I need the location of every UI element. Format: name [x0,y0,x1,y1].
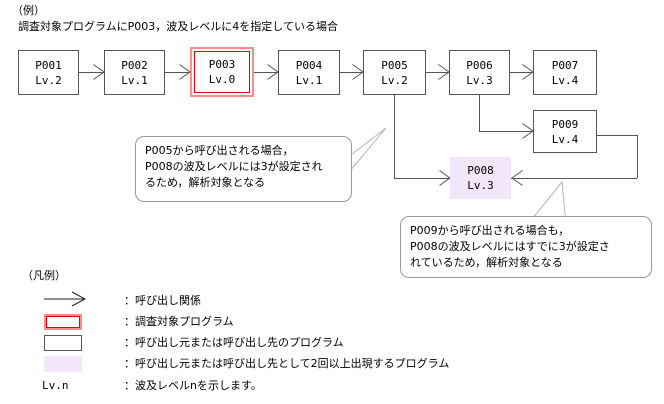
program-box-p004[interactable]: P004 Lv.1 [278,50,340,95]
legend-lvn-text: Lv.n [42,377,69,395]
callout-p005: P005から呼び出される場合， P008の波及レベルには3が設定され るため，解… [135,136,352,202]
program-level-p001: Lv.2 [35,73,62,88]
program-box-p005[interactable]: P005 Lv.2 [363,50,426,95]
program-name-p008: P008 [467,163,494,178]
legend-red-box-icon [38,312,94,332]
program-name-p006: P006 [466,58,493,73]
program-name-p007: P007 [552,58,579,73]
edge-p006-p009-vline [479,95,480,131]
program-level-p004: Lv.1 [296,73,323,88]
program-level-p009: Lv.4 [552,132,579,147]
legend-label-call-relation: ：呼び出し関係 [124,292,201,310]
program-name-p003: P003 [209,57,236,72]
edge-p009-p008-vline [637,135,638,178]
program-level-p002: Lv.1 [121,73,148,88]
program-name-p001: P001 [35,58,62,73]
legend-title: （凡例） [22,267,66,283]
program-name-p004: P004 [296,58,323,73]
legend-lvn-icon: Lv.n [38,376,94,396]
program-name-p009: P009 [552,117,579,132]
edge-p005-p008-vline [394,95,395,178]
program-name-p005: P005 [381,58,408,73]
program-box-p001[interactable]: P001 Lv.2 [18,50,79,95]
legend-arrow-icon [38,291,94,311]
program-box-p009[interactable]: P009 Lv.4 [533,110,597,153]
legend-label-target-program: ：調査対象プログラム [124,313,234,331]
program-box-p007[interactable]: P007 Lv.4 [533,50,597,95]
program-level-p005: Lv.2 [381,73,408,88]
legend-plain-box-icon [38,333,94,353]
program-name-p002: P002 [121,58,148,73]
program-box-p006[interactable]: P006 Lv.3 [449,50,510,95]
legend-label-caller-callee-program: ：呼び出し元または呼び出し先のプログラム [124,334,344,352]
program-level-p006: Lv.3 [466,73,493,88]
program-level-p003: Lv.0 [209,72,236,87]
edge-p009-p008-hline-top [597,135,637,136]
example-label: （例） [12,3,45,18]
diagram-canvas: （例） 調査対象プログラムにP003，波及レベルに4を指定している場合 [0,0,664,404]
edge-p009-p008-hline-bottom [511,178,637,179]
diagram-description: 調査対象プログラムにP003，波及レベルに4を指定している場合 [18,19,338,34]
program-level-p007: Lv.4 [552,73,579,88]
legend-label-multi-appearance-program: ：呼び出し元または呼び出し先として2回以上出現するプログラム [124,355,449,373]
program-level-p008: Lv.3 [467,178,494,193]
program-box-p002[interactable]: P002 Lv.1 [104,50,165,95]
program-box-p003[interactable]: P003 Lv.0 [190,47,254,97]
legend-label-level-notation: ：波及レベルnを示します。 [124,377,262,395]
legend-lavender-box-icon [38,354,94,374]
callout-p009: P009から呼び出される場合も， P008の波及レベルにはすでに3が設定さ れて… [400,216,652,278]
